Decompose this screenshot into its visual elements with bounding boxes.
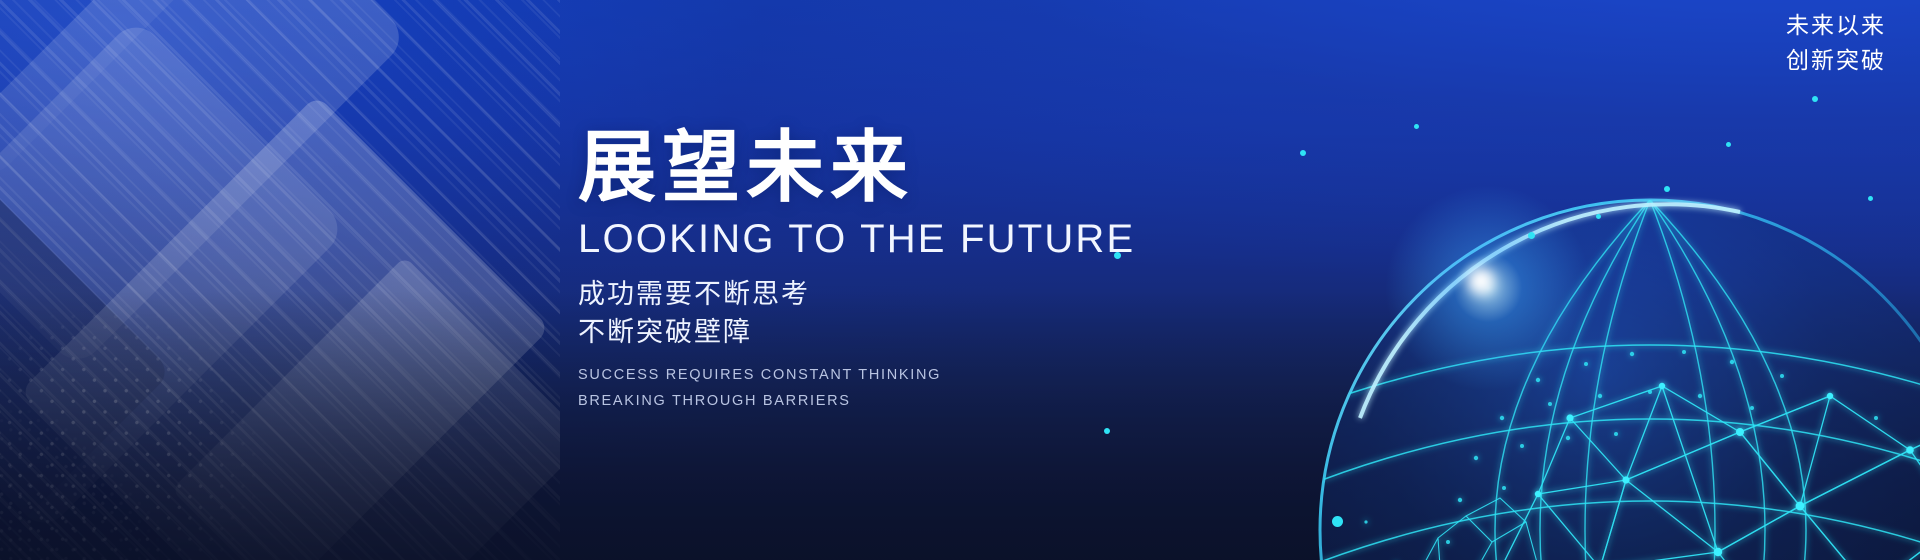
subhead-chinese: 成功需要不断思考 不断突破壁障 — [578, 275, 1278, 352]
particle-dot — [1300, 150, 1306, 156]
subhead-english-line2: BREAKING THROUGH BARRIERS — [578, 389, 1278, 415]
particle-dot — [1332, 516, 1343, 527]
subhead-chinese-line1: 成功需要不断思考 — [578, 275, 1278, 313]
banner-root: 未来以来 创新突破 展望未来 LOOKING TO THE FUTURE 成功需… — [0, 0, 1920, 560]
headline-block: 展望未来 LOOKING TO THE FUTURE 成功需要不断思考 不断突破… — [578, 126, 1278, 415]
particle-dot — [1104, 428, 1110, 434]
particle-dot — [1868, 196, 1873, 201]
page-title-english: LOOKING TO THE FUTURE — [578, 217, 1278, 261]
subhead-english-line1: SUCCESS REQUIRES CONSTANT THINKING — [578, 363, 1278, 389]
particle-dot — [1812, 96, 1818, 102]
particle-dot — [1664, 186, 1670, 192]
corner-slogan-line1: 未来以来 — [1786, 8, 1886, 43]
particle-dot — [1596, 214, 1601, 219]
particle-dot — [1726, 142, 1731, 147]
corner-slogan: 未来以来 创新突破 — [1786, 8, 1886, 77]
subhead-english: SUCCESS REQUIRES CONSTANT THINKING BREAK… — [578, 363, 1278, 415]
particle-dot — [1414, 124, 1419, 129]
particle-dot — [1528, 232, 1535, 239]
corner-slogan-line2: 创新突破 — [1786, 43, 1886, 78]
page-title-chinese: 展望未来 — [578, 126, 1278, 209]
subhead-chinese-line2: 不断突破壁障 — [578, 313, 1278, 351]
